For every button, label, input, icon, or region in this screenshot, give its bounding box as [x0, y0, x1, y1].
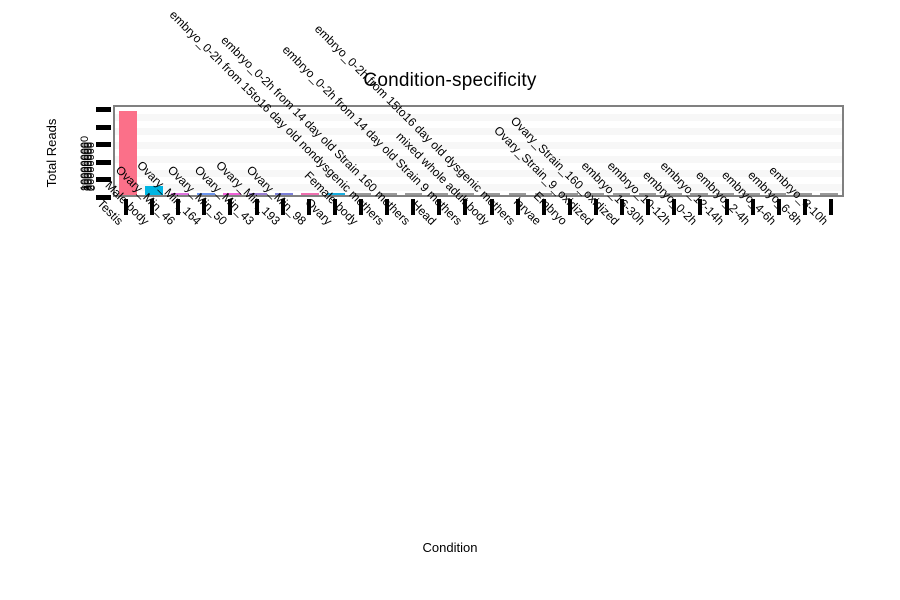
chart-root: Condition-specificity Total Reads 020000… — [0, 0, 900, 600]
x-axis-tick-labels: TestisMale-bodyOvary_Min_46Ovary_Min_164… — [113, 218, 844, 548]
bar[interactable] — [820, 193, 838, 195]
x-tick-mark — [829, 199, 833, 215]
bar-cell[interactable] — [816, 107, 842, 195]
x-axis-title: Condition — [0, 540, 900, 555]
